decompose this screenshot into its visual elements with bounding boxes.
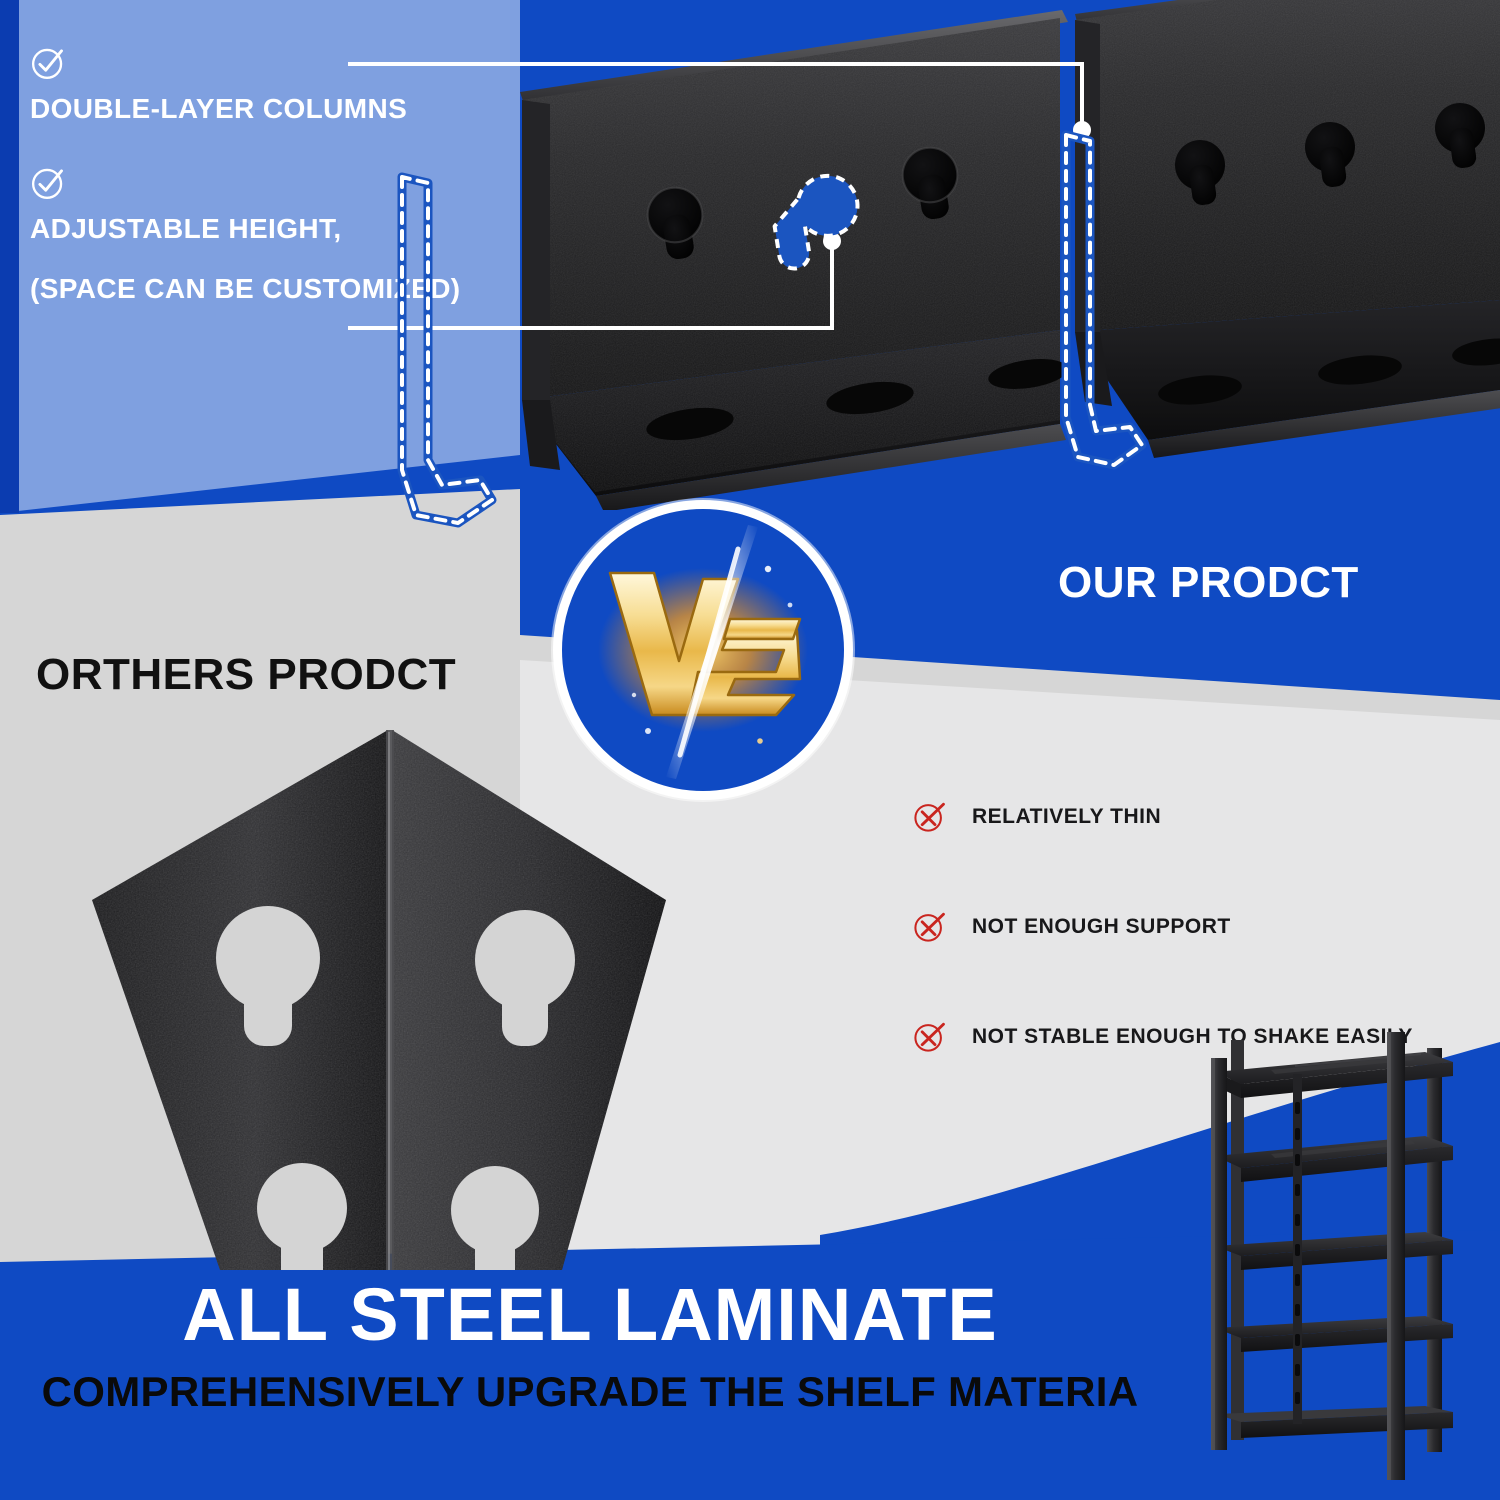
check-circle-icon (30, 45, 66, 81)
banner-subtitle: COMPREHENSIVELY UPGRADE THE SHELF MATERI… (0, 1368, 1180, 1416)
shelf-tier-1 (1215, 1052, 1453, 1098)
cons-item-0: RELATIVELY THIN (912, 800, 1452, 834)
vs-badge: VS (553, 500, 853, 800)
feature-sublabel-1: (SPACE CAN BE CUSTOMIZED) (30, 273, 500, 305)
infographic-canvas: DOUBLE-LAYER COLUMNS ADJUSTABLE HEIGHT, … (0, 0, 1500, 1500)
cons-label-0: RELATIVELY THIN (972, 805, 1161, 829)
shelf-tier-2 (1215, 1136, 1453, 1182)
shelf-tier-5 (1215, 1406, 1453, 1438)
feature-item-1: ADJUSTABLE HEIGHT, (SPACE CAN BE CUSTOMI… (30, 165, 500, 305)
shelf-tier-4 (1215, 1316, 1453, 1352)
feature-bullet-list: DOUBLE-LAYER COLUMNS ADJUSTABLE HEIGHT, … (30, 45, 500, 346)
feature-label-1: ADJUSTABLE HEIGHT, (30, 213, 500, 245)
banner-title: ALL STEEL LAMINATE (0, 1272, 1180, 1357)
steel-beam-photo (500, 0, 1500, 510)
feature-label-0: DOUBLE-LAYER COLUMNS (30, 93, 500, 125)
x-circle-icon (912, 1020, 946, 1054)
feature-item-0: DOUBLE-LAYER COLUMNS (30, 45, 500, 125)
ours-heading: OUR PRODCT (1058, 558, 1359, 608)
cons-item-1: NOT ENOUGH SUPPORT (912, 910, 1452, 944)
x-circle-icon (912, 800, 946, 834)
cons-label-1: NOT ENOUGH SUPPORT (972, 915, 1231, 939)
background-left-stripe (0, 0, 19, 513)
shelf-tier-3 (1215, 1232, 1453, 1270)
angle-bracket-photo (70, 710, 670, 1270)
others-heading: ORTHERS PRODCT (36, 650, 456, 700)
x-circle-icon (912, 910, 946, 944)
check-circle-icon (30, 165, 66, 201)
shelving-unit-photo (1175, 1010, 1475, 1490)
